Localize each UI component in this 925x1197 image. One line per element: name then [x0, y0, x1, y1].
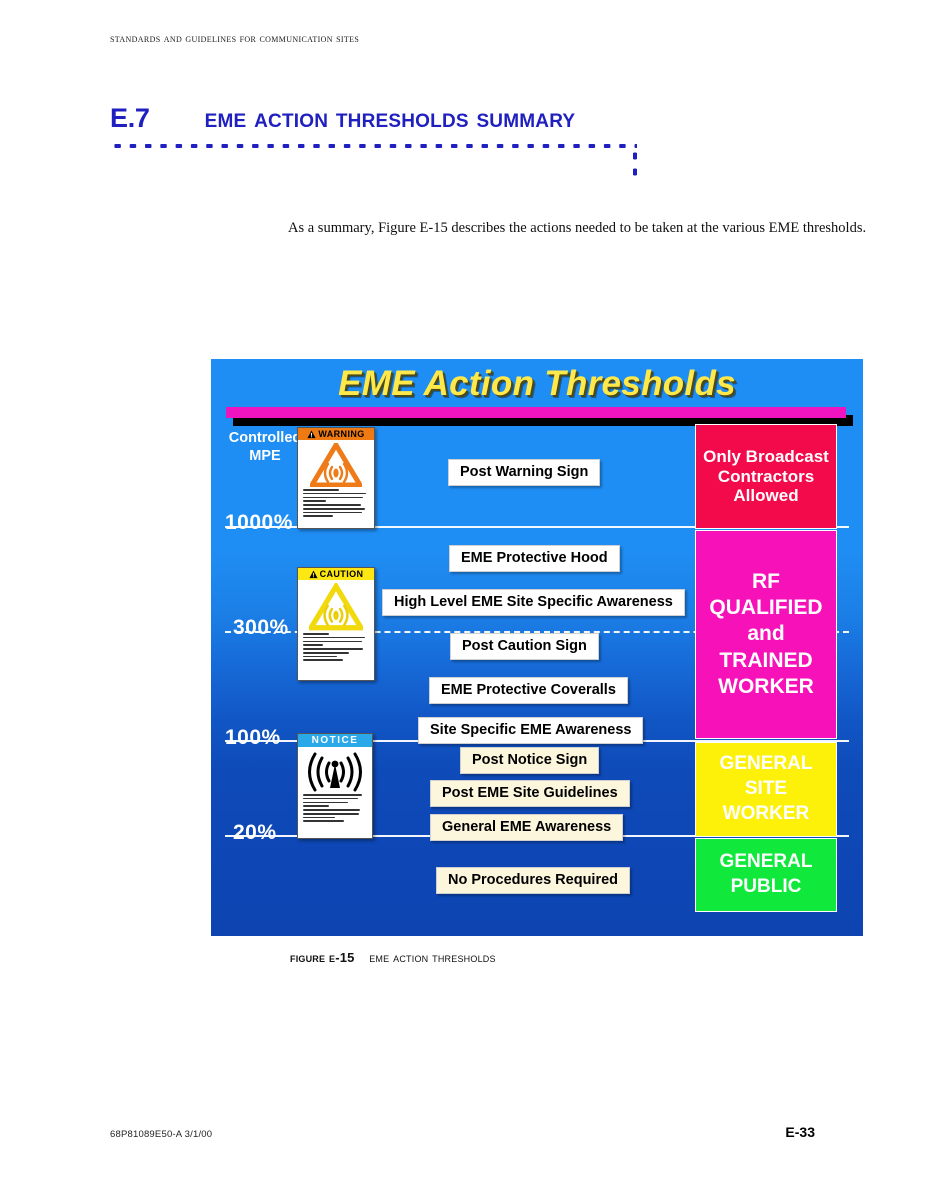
caution-sign-header: CAUTION: [298, 568, 374, 580]
action-box-post-notice-sign[interactable]: Post Notice Sign: [460, 747, 599, 774]
accent-bar: [226, 407, 846, 418]
action-box-post-warning-sign[interactable]: Post Warning Sign: [448, 459, 600, 486]
warning-sign: WARNING: [297, 427, 375, 529]
footer-document-id: 68P81089E50-A 3/1/00: [110, 1129, 212, 1140]
action-box-post-eme-site-guidelines[interactable]: Post EME Site Guidelines: [430, 780, 630, 807]
category-line: SITE: [745, 777, 787, 802]
action-box-no-procedures-required[interactable]: No Procedures Required: [436, 867, 630, 894]
axis-label-line1: Controlled: [229, 430, 302, 446]
body-paragraph: As a summary, Figure E-15 describes the …: [288, 218, 873, 239]
figure-caption-text: EME Action Thresholds: [369, 950, 495, 965]
caution-sign: CAUTION: [297, 567, 375, 681]
category-line: WORKER: [718, 674, 814, 700]
action-box-eme-protective-coveralls[interactable]: EME Protective Coveralls: [429, 677, 628, 704]
notice-sign: NOTICE: [297, 733, 373, 839]
heading-dotted-rule: [110, 144, 637, 148]
category-broadcast-contractors[interactable]: Only Broadcast Contractors Allowed: [695, 424, 837, 529]
caution-sign-body: [298, 580, 374, 680]
heading-dotted-rule-vertical: [633, 148, 637, 180]
action-box-general-eme-awareness[interactable]: General EME Awareness: [430, 814, 623, 841]
axis-tick-100: 100%: [225, 726, 281, 750]
notice-sign-header-text: NOTICE: [312, 735, 359, 746]
page-title: EME Action Thresholds Summary: [205, 103, 576, 134]
category-line: WORKER: [723, 802, 810, 827]
category-general-public[interactable]: GENERAL PUBLIC: [695, 838, 837, 912]
axis-label-line2: MPE: [249, 448, 280, 464]
notice-sign-body: [298, 747, 372, 838]
category-line: Only Broadcast: [703, 447, 829, 467]
axis-tick-300: 300%: [233, 616, 289, 640]
warning-sign-header: WARNING: [298, 428, 374, 440]
category-line: TRAINED: [719, 648, 812, 674]
category-general-site-worker[interactable]: GENERAL SITE WORKER: [695, 742, 837, 837]
figure-caption-label: Figure E-15: [290, 950, 355, 965]
axis-tick-20: 20%: [233, 821, 277, 845]
section-heading: E.7 EME Action Thresholds Summary: [110, 103, 810, 134]
category-line: PUBLIC: [731, 875, 802, 900]
rf-antenna-icon: [307, 750, 363, 792]
action-box-site-specific-eme-awareness[interactable]: Site Specific EME Awareness: [418, 717, 643, 744]
section-number: E.7: [110, 103, 150, 134]
rf-hazard-triangle-icon: [310, 443, 362, 487]
category-line: GENERAL: [720, 850, 813, 875]
category-line: GENERAL: [720, 752, 813, 777]
category-line: RF: [752, 569, 780, 595]
caution-sign-header-text: CAUTION: [320, 569, 364, 579]
warning-sign-text-lines: [303, 489, 368, 519]
warning-sign-header-text: WARNING: [318, 429, 364, 439]
action-box-post-caution-sign[interactable]: Post Caution Sign: [450, 633, 599, 660]
figure-title: EME Action Thresholds: [211, 364, 863, 404]
warning-sign-body: [298, 440, 374, 528]
notice-sign-header: NOTICE: [298, 734, 372, 747]
caution-triangle-icon: [309, 570, 318, 579]
category-rf-qualified-trained-worker[interactable]: RF QUALIFIED and TRAINED WORKER: [695, 530, 837, 739]
notice-sign-text-lines: [303, 794, 367, 824]
action-box-high-level-eme-awareness[interactable]: High Level EME Site Specific Awareness: [382, 589, 685, 616]
axis-tick-1000: 1000%: [225, 511, 293, 535]
category-line: Allowed: [733, 486, 798, 506]
category-line: Contractors: [718, 467, 814, 487]
category-line: and: [747, 621, 784, 647]
figure-caption: Figure E-15 EME Action Thresholds: [290, 950, 496, 965]
caution-sign-text-lines: [303, 633, 368, 663]
running-header-text: Standards and Guidelines for Communicati…: [110, 33, 359, 45]
category-line: QUALIFIED: [709, 595, 822, 621]
rf-hazard-triangle-icon: [309, 583, 363, 631]
document-page: Standards and Guidelines for Communicati…: [0, 0, 925, 1197]
figure-eme-action-thresholds: EME Action Thresholds Controlled MPE 100…: [211, 359, 863, 936]
action-box-eme-protective-hood[interactable]: EME Protective Hood: [449, 545, 620, 572]
axis-label-controlled-mpe: Controlled MPE: [225, 429, 305, 465]
running-header: Standards and Guidelines for Communicati…: [110, 33, 359, 45]
warning-triangle-icon: [307, 430, 316, 439]
footer-page-number: E-33: [785, 1124, 815, 1140]
